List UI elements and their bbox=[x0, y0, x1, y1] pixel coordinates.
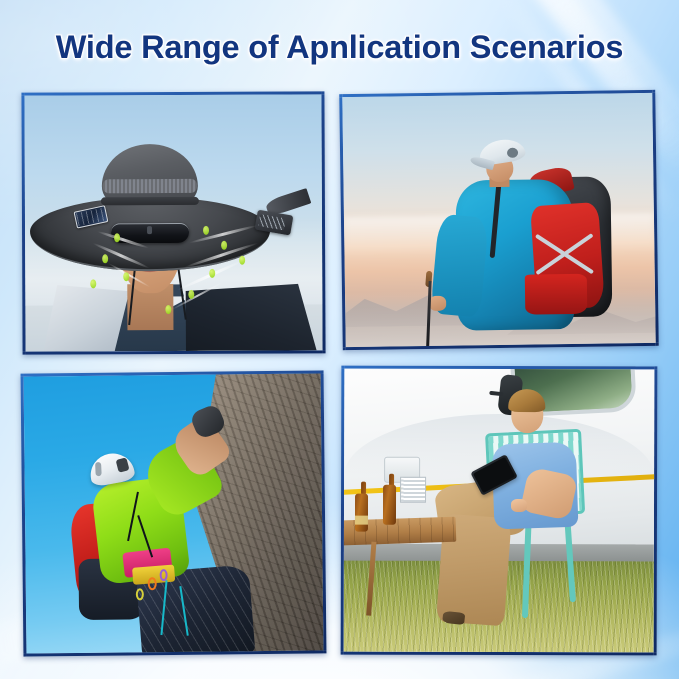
panel-hiking[interactable] bbox=[339, 90, 659, 350]
panel-camping[interactable] bbox=[341, 366, 658, 656]
airflow-particle bbox=[123, 272, 129, 281]
hat-mesh-band bbox=[103, 179, 197, 193]
scenario-image-grid bbox=[0, 0, 679, 679]
rv-grille bbox=[400, 476, 426, 502]
backpack-red-bottom bbox=[525, 274, 588, 315]
panel-hat[interactable] bbox=[21, 91, 325, 354]
carabiner bbox=[147, 577, 156, 590]
photo-rock-climbing bbox=[24, 373, 324, 653]
hiker-hand bbox=[429, 296, 446, 311]
panel-climbing[interactable] bbox=[21, 370, 327, 656]
hat-crown bbox=[101, 144, 197, 204]
backpack-straps bbox=[530, 224, 599, 280]
carabiner bbox=[159, 569, 167, 581]
photo-camping-rv bbox=[344, 369, 655, 653]
airflow-particle bbox=[102, 254, 108, 263]
airflow-particle bbox=[165, 305, 171, 314]
panel-climbing-photo bbox=[24, 373, 324, 653]
beer-bottle bbox=[383, 485, 396, 525]
panel-hat-photo bbox=[24, 94, 322, 351]
airflow-particle bbox=[221, 241, 227, 250]
vest-right bbox=[186, 284, 317, 351]
airflow-particle bbox=[203, 225, 209, 234]
person-torso bbox=[25, 284, 322, 352]
photo-solar-fan-hat bbox=[24, 94, 322, 351]
cap-back-opening bbox=[507, 147, 518, 157]
beer-bottle bbox=[355, 493, 368, 531]
hat-band bbox=[101, 197, 199, 205]
photo-hiking-sunset bbox=[342, 93, 655, 347]
panel-camping-photo bbox=[344, 369, 655, 653]
airflow-particle bbox=[239, 256, 245, 265]
person-hand bbox=[511, 499, 527, 512]
beer-bottle-label bbox=[355, 516, 368, 525]
panel-hiking-photo bbox=[342, 93, 655, 347]
